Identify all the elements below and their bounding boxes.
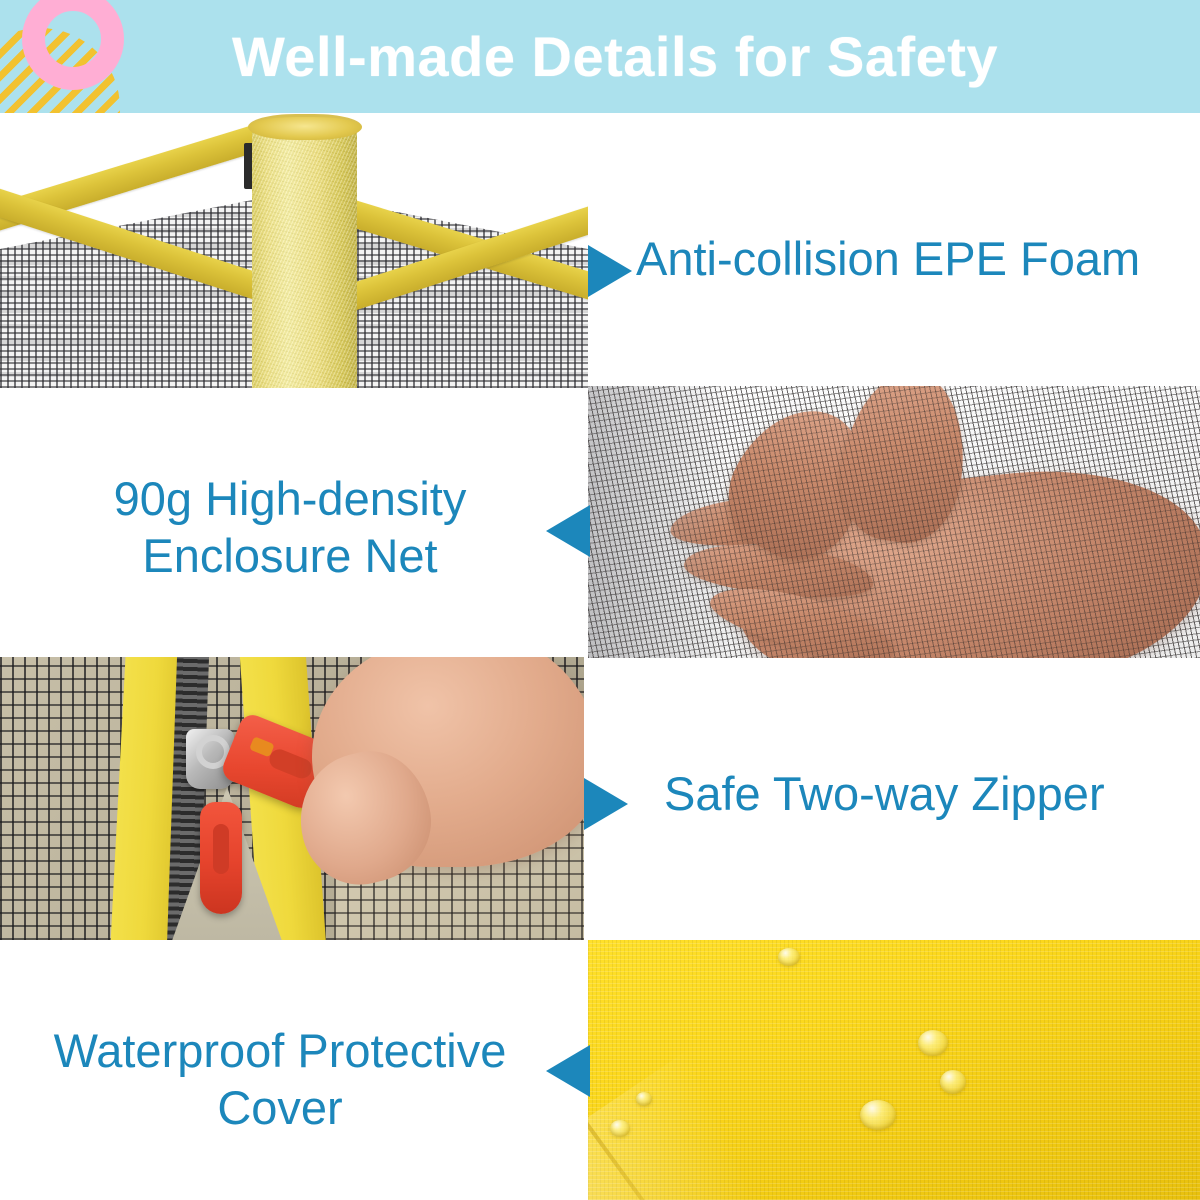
- pole-cap: [248, 114, 362, 140]
- zipper-pull-lower: [200, 802, 242, 914]
- header-banner: Well-made Details for Safety: [0, 0, 1200, 113]
- epe-foam-pole-sleeve: [252, 123, 357, 388]
- water-droplet: [778, 948, 800, 966]
- arrow-icon-anti-collision-epe-foam: [588, 245, 632, 297]
- net-edge-shadow: [588, 386, 728, 658]
- feature-image-waterproof-protective-cover: [588, 940, 1200, 1200]
- water-droplet: [636, 1092, 652, 1106]
- water-droplet: [918, 1030, 948, 1056]
- arrow-icon-safe-two-way-zipper: [584, 778, 628, 830]
- feature-label-safe-two-way-zipper: Safe Two-way Zipper: [664, 765, 1184, 822]
- feature-image-anti-collision-epe-foam: [0, 113, 588, 388]
- feature-label-waterproof-protective-cover: Waterproof Protective Cover: [10, 1022, 550, 1137]
- feature-image-high-density-enclosure-net: [588, 386, 1200, 658]
- water-droplet: [940, 1070, 966, 1094]
- page-title: Well-made Details for Safety: [0, 0, 1200, 113]
- infographic-page: Well-made Details for Safety: [0, 0, 1200, 1200]
- arrow-icon-high-density-enclosure-net: [546, 505, 590, 557]
- water-droplet: [860, 1100, 896, 1130]
- arrow-icon-waterproof-protective-cover: [546, 1045, 590, 1097]
- water-droplet: [610, 1120, 630, 1137]
- feature-image-safe-two-way-zipper: [0, 657, 584, 940]
- feature-label-high-density-enclosure-net: 90g High-density Enclosure Net: [40, 470, 540, 585]
- feature-label-anti-collision-epe-foam: Anti-collision EPE Foam: [636, 230, 1196, 287]
